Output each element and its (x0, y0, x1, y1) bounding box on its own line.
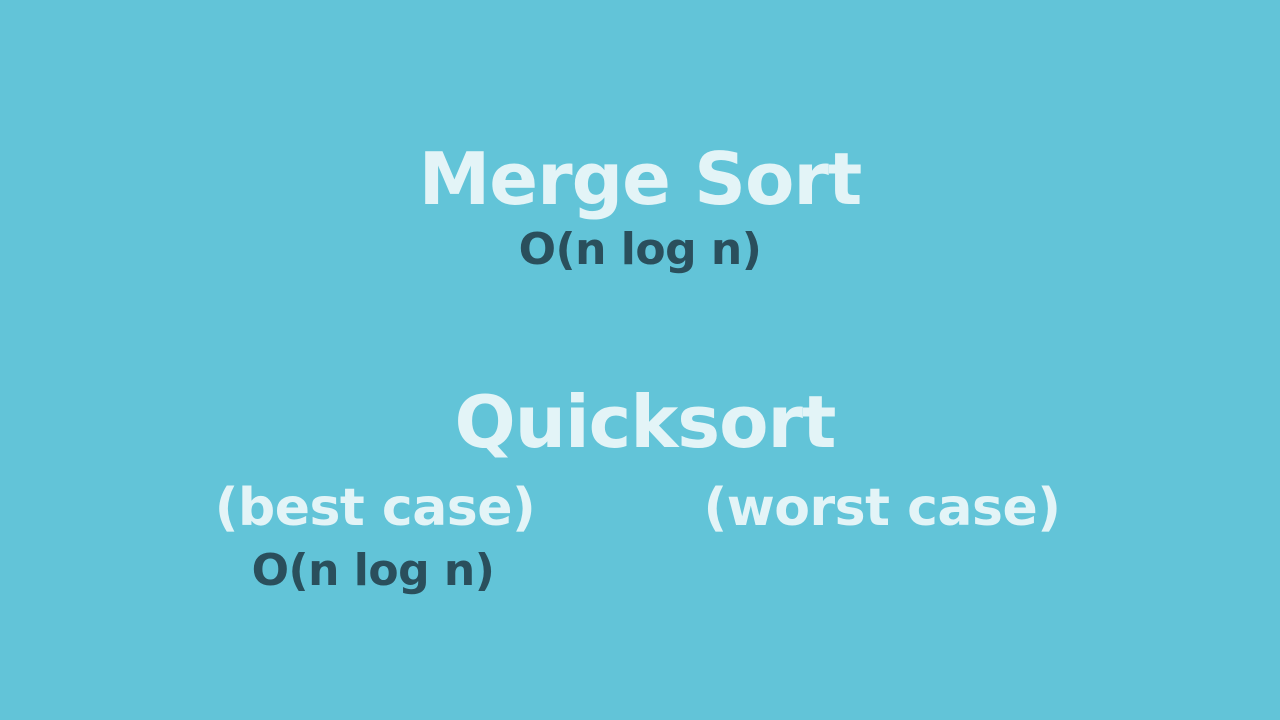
quicksort-worst-case-label: (worst case) (682, 482, 1082, 534)
merge-sort-title: Merge Sort (0, 143, 1280, 215)
quicksort-title: Quicksort (5, 386, 1280, 458)
quicksort-best-case-complexity: O(n log n) (173, 549, 573, 593)
quicksort-best-case-label: (best case) (175, 482, 575, 534)
merge-sort-complexity: O(n log n) (0, 228, 1280, 272)
slide-canvas: Merge Sort O(n log n) Quicksort (best ca… (0, 0, 1280, 720)
